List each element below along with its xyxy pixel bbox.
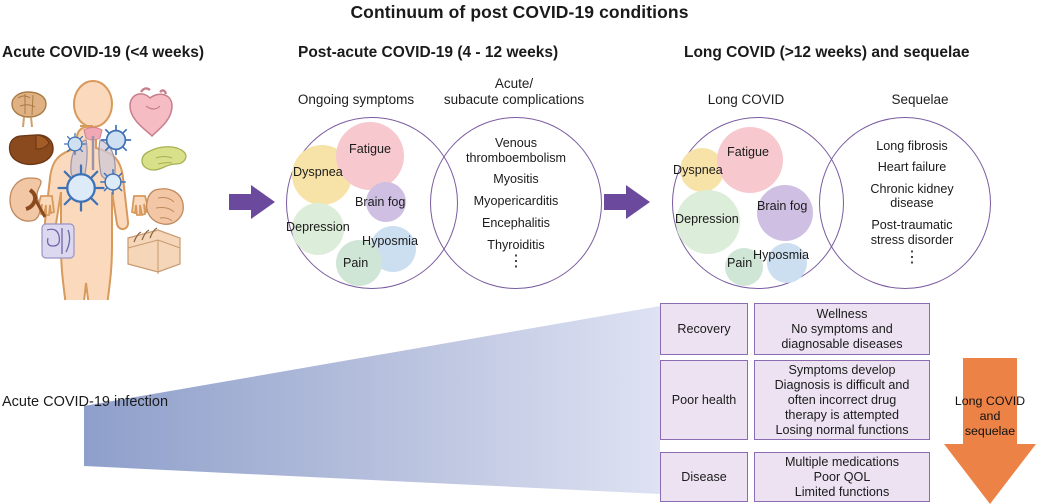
bubble-label-depression: Depression — [286, 220, 350, 234]
complication-item-2: Myositis — [430, 172, 602, 187]
phase-header-post-acute: Post-acute COVID-19 (4 - 12 weeks) — [298, 44, 558, 62]
bubble-label-dyspnea: Dyspnea — [293, 165, 343, 179]
bubble-label-pain: Pain — [343, 256, 368, 270]
bubble-label-hyposmia: Hyposmia — [362, 234, 418, 248]
outcome-detail-recovery: Wellness No symptoms and diagnosable dis… — [754, 303, 930, 355]
bubble-label-brain-fog-long: Brain fog — [757, 199, 807, 213]
complication-ellipsis: ⋮ — [430, 254, 602, 269]
page-title: Continuum of post COVID-19 conditions — [0, 2, 1039, 23]
heart-icon — [130, 88, 172, 136]
arrow-postacute-to-long — [604, 185, 650, 219]
sequelae-item-1: Heart failure — [838, 160, 986, 175]
arrow-head — [944, 444, 1036, 504]
long-covid-sequelae-arrow: Long COVID and sequelae — [944, 358, 1036, 504]
bubble-fatigue — [336, 122, 404, 190]
bubble-fatigue-long — [717, 127, 783, 193]
sequelae-heading: Sequelae — [842, 92, 998, 107]
bubble-label-brain-fog: Brain fog — [355, 195, 405, 209]
acute-subacute-heading-line1: Acute/ — [432, 76, 596, 91]
orange-arrow-label: Long COVID and sequelae — [944, 394, 1036, 439]
pancreas-icon — [142, 147, 186, 170]
skin-icon — [128, 228, 180, 274]
phase-header-long-covid: Long COVID (>12 weeks) and sequelae — [684, 44, 970, 62]
bubble-label-fatigue: Fatigue — [349, 142, 391, 156]
complication-item-1: thromboembolism — [424, 151, 608, 166]
lung-tissue-icon — [147, 189, 184, 224]
outcome-name-disease[interactable]: Disease — [660, 452, 748, 502]
long-covid-heading: Long COVID — [672, 92, 820, 107]
outcome-detail-disease: Multiple medications Poor QOL Limited fu… — [754, 452, 930, 502]
acute-subacute-heading-line2: subacute complications — [424, 92, 604, 107]
sequelae-item-0: Long fibrosis — [838, 139, 986, 154]
arrow-acute-to-postacute — [229, 185, 275, 219]
complication-item-0: Venous — [430, 136, 602, 151]
phase-header-acute: Acute COVID-19 (<4 weeks) — [2, 44, 204, 62]
ongoing-symptoms-heading: Ongoing symptoms — [286, 92, 426, 107]
liver-icon — [9, 135, 53, 165]
intestines-icon — [42, 224, 74, 258]
human-body-organs-illustration — [0, 78, 232, 300]
funnel-label: Acute COVID-19 infection — [2, 394, 168, 410]
sequelae-item-5: stress disorder — [838, 233, 986, 248]
outcome-name-recovery[interactable]: Recovery — [660, 303, 748, 355]
sequelae-item-3: disease — [838, 196, 986, 211]
complication-item-3: Myopericarditis — [430, 194, 602, 209]
bubble-label-dyspnea-long: Dyspnea — [673, 163, 723, 177]
bubble-label-hyposmia-long: Hyposmia — [753, 248, 809, 262]
sequelae-ellipsis: ⋮ — [838, 250, 986, 265]
outcome-name-poor-health[interactable]: Poor health — [660, 360, 748, 440]
brain-icon — [12, 92, 46, 127]
bubble-brain-fog-long — [757, 185, 813, 241]
bubble-label-depression-long: Depression — [675, 212, 739, 226]
bubble-label-pain-long: Pain — [727, 256, 752, 270]
sequelae-item-4: Post-traumatic — [838, 218, 986, 233]
bubble-label-fatigue-long: Fatigue — [727, 145, 769, 159]
complication-item-5: Thyroiditis — [430, 238, 602, 253]
outcome-detail-poor-health: Symptoms develop Diagnosis is difficult … — [754, 360, 930, 440]
complication-item-4: Encephalitis — [430, 216, 602, 231]
